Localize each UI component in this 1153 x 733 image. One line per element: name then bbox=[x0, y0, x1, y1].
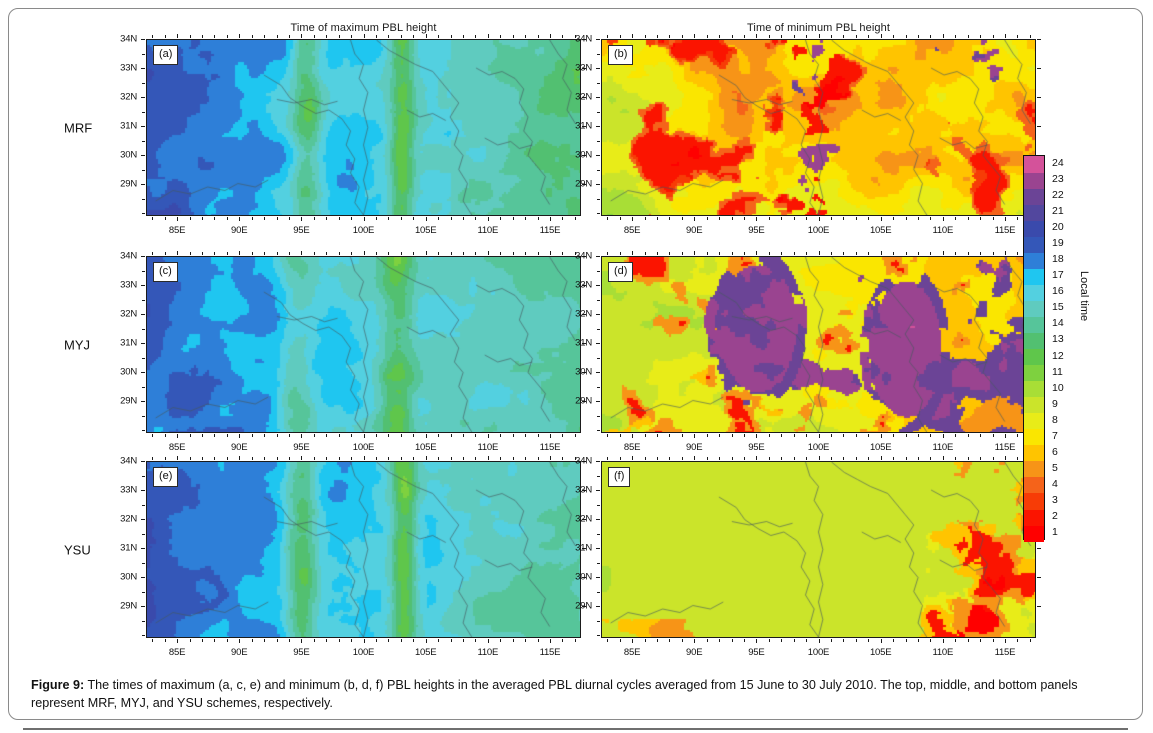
xtick-mark-top bbox=[550, 251, 551, 255]
xtick-mark-top bbox=[843, 457, 844, 460]
xtick-mark-bottom bbox=[165, 434, 166, 437]
ytick-label-29N: 29N bbox=[575, 179, 592, 190]
colorbar-label-13: 13 bbox=[1052, 333, 1064, 345]
colorbar-label-16: 16 bbox=[1052, 285, 1064, 297]
ytick-label-30N: 30N bbox=[575, 572, 592, 583]
xtick-mark-bottom bbox=[202, 639, 203, 642]
xtick-mark-top bbox=[980, 457, 981, 460]
ytick-mark-minor bbox=[142, 83, 145, 84]
colorbar-swatch-18 bbox=[1024, 252, 1044, 269]
xtick-mark-bottom bbox=[301, 217, 302, 221]
xtick-mark-top bbox=[475, 252, 476, 255]
xtick-mark-bottom bbox=[893, 217, 894, 220]
xtick-mark-top bbox=[388, 457, 389, 460]
xtick-mark-top bbox=[943, 456, 944, 460]
ytick-mark-minor bbox=[597, 534, 600, 535]
ytick-mark-right bbox=[1037, 68, 1041, 69]
xtick-mark-bottom bbox=[993, 217, 994, 220]
ytick-mark bbox=[141, 461, 145, 462]
xtick-mark-top bbox=[500, 457, 501, 460]
xtick-mark-bottom bbox=[868, 434, 869, 437]
xtick-mark-top bbox=[607, 252, 608, 255]
xtick-mark-top bbox=[326, 252, 327, 255]
xtick-mark-bottom bbox=[550, 217, 551, 221]
ytick-label-32N: 32N bbox=[575, 514, 592, 525]
xtick-mark-top bbox=[214, 457, 215, 460]
xtick-mark-bottom bbox=[856, 639, 857, 642]
xtick-mark-top bbox=[781, 457, 782, 460]
column-title-left: Time of maximum PBL height bbox=[146, 22, 581, 34]
xtick-mark-bottom bbox=[426, 217, 427, 221]
ytick-mark bbox=[141, 372, 145, 373]
ytick-mark-minor bbox=[597, 476, 600, 477]
xtick-mark-top bbox=[719, 35, 720, 38]
ytick-mark bbox=[141, 577, 145, 578]
map-e: (e) bbox=[146, 461, 581, 638]
xtick-mark-top bbox=[682, 457, 683, 460]
xtick-mark-top bbox=[794, 35, 795, 38]
xtick-mark-bottom bbox=[819, 434, 820, 438]
xtick-mark-top bbox=[463, 35, 464, 38]
xtick-mark-top bbox=[769, 457, 770, 460]
panel-tag: (d) bbox=[608, 262, 633, 282]
xtick-mark-top bbox=[657, 35, 658, 38]
xtick-mark-bottom bbox=[475, 434, 476, 437]
xtick-mark-bottom bbox=[152, 434, 153, 437]
ytick-mark-minor bbox=[142, 199, 145, 200]
ytick-mark-minor bbox=[597, 300, 600, 301]
xtick-mark-bottom bbox=[657, 434, 658, 437]
xtick-mark-top bbox=[682, 35, 683, 38]
xtick-mark-top bbox=[351, 252, 352, 255]
ytick-mark bbox=[596, 490, 600, 491]
xtick-mark-bottom bbox=[843, 217, 844, 220]
xtick-mark-bottom bbox=[451, 434, 452, 437]
xtick-mark-bottom bbox=[239, 217, 240, 221]
map-raster-d bbox=[602, 257, 1035, 432]
xtick-label-90E: 90E bbox=[686, 225, 702, 236]
xtick-mark-top bbox=[538, 252, 539, 255]
xtick-mark-bottom bbox=[488, 639, 489, 643]
ytick-mark-minor bbox=[597, 83, 600, 84]
xtick-mark-bottom bbox=[707, 639, 708, 642]
xtick-mark-top bbox=[314, 252, 315, 255]
xtick-mark-top bbox=[694, 34, 695, 38]
column-title-right: Time of minimum PBL height bbox=[601, 22, 1036, 34]
xtick-mark-top bbox=[943, 251, 944, 255]
row-label-MYJ: MYJ bbox=[64, 337, 90, 352]
panel-tag: (b) bbox=[608, 45, 633, 65]
xtick-mark-top bbox=[806, 35, 807, 38]
xtick-mark-top bbox=[562, 35, 563, 38]
ytick-label-34N: 34N bbox=[120, 34, 137, 45]
ytick-mark-right bbox=[1037, 606, 1041, 607]
xtick-mark-top bbox=[906, 35, 907, 38]
xtick-mark-top bbox=[525, 35, 526, 38]
xtick-label-90E: 90E bbox=[231, 442, 247, 453]
ytick-mark-right bbox=[1037, 577, 1041, 578]
xtick-mark-bottom bbox=[682, 217, 683, 220]
xtick-mark-bottom bbox=[943, 217, 944, 221]
xtick-mark-top bbox=[744, 35, 745, 38]
xtick-mark-top bbox=[993, 252, 994, 255]
xtick-mark-top bbox=[893, 35, 894, 38]
xtick-mark-bottom bbox=[881, 434, 882, 438]
ytick-mark bbox=[596, 401, 600, 402]
xtick-mark-top bbox=[632, 34, 633, 38]
colorbar-swatch-12 bbox=[1024, 349, 1044, 366]
xtick-mark-bottom bbox=[165, 639, 166, 642]
xtick-mark-bottom bbox=[227, 217, 228, 220]
xtick-mark-top bbox=[781, 35, 782, 38]
xtick-mark-top bbox=[202, 457, 203, 460]
xtick-mark-bottom bbox=[301, 434, 302, 438]
panel-f: (f)34N33N32N31N30N29N85E90E95E100E105E11… bbox=[601, 461, 1036, 638]
xtick-mark-bottom bbox=[806, 639, 807, 642]
xtick-mark-bottom bbox=[694, 639, 695, 643]
xtick-mark-top bbox=[806, 457, 807, 460]
xtick-mark-top bbox=[152, 457, 153, 460]
xtick-mark-bottom bbox=[707, 217, 708, 220]
xtick-mark-bottom bbox=[388, 434, 389, 437]
xtick-mark-bottom bbox=[289, 434, 290, 437]
ytick-mark-minor bbox=[597, 329, 600, 330]
colorbar-label-15: 15 bbox=[1052, 301, 1064, 313]
xtick-mark-top bbox=[620, 252, 621, 255]
colorbar-label-12: 12 bbox=[1052, 350, 1064, 362]
xtick-label-85E: 85E bbox=[169, 442, 185, 453]
ytick-label-34N: 34N bbox=[120, 456, 137, 467]
xtick-mark-bottom bbox=[906, 434, 907, 437]
xtick-mark-bottom bbox=[314, 434, 315, 437]
ytick-label-33N: 33N bbox=[575, 485, 592, 496]
ytick-mark bbox=[596, 155, 600, 156]
xtick-mark-bottom bbox=[893, 639, 894, 642]
ytick-mark bbox=[141, 285, 145, 286]
xtick-mark-bottom bbox=[538, 217, 539, 220]
xtick-mark-bottom bbox=[1030, 639, 1031, 642]
xtick-mark-top bbox=[794, 252, 795, 255]
ytick-mark bbox=[596, 606, 600, 607]
xtick-mark-top bbox=[413, 457, 414, 460]
xtick-mark-top bbox=[339, 35, 340, 38]
xtick-mark-top bbox=[451, 252, 452, 255]
xtick-label-100E: 100E bbox=[808, 647, 829, 658]
xtick-mark-top bbox=[893, 252, 894, 255]
xtick-mark-bottom bbox=[326, 434, 327, 437]
xtick-mark-top bbox=[227, 457, 228, 460]
xtick-mark-top bbox=[202, 252, 203, 255]
xtick-mark-bottom bbox=[364, 217, 365, 221]
xtick-label-100E: 100E bbox=[808, 442, 829, 453]
xtick-mark-bottom bbox=[955, 217, 956, 220]
ytick-label-33N: 33N bbox=[575, 280, 592, 291]
xtick-mark-top bbox=[694, 251, 695, 255]
xtick-mark-bottom bbox=[227, 639, 228, 642]
xtick-mark-bottom bbox=[401, 639, 402, 642]
xtick-mark-top bbox=[413, 252, 414, 255]
ytick-mark-minor bbox=[597, 621, 600, 622]
xtick-mark-top bbox=[326, 457, 327, 460]
colorbar-label-18: 18 bbox=[1052, 253, 1064, 265]
xtick-mark-top bbox=[413, 35, 414, 38]
xtick-mark-bottom bbox=[669, 217, 670, 220]
ytick-mark bbox=[596, 184, 600, 185]
colorbar-label-7: 7 bbox=[1052, 430, 1058, 442]
xtick-mark-top bbox=[744, 457, 745, 460]
ytick-mark-minor bbox=[597, 112, 600, 113]
xtick-label-95E: 95E bbox=[293, 442, 309, 453]
xtick-label-95E: 95E bbox=[293, 647, 309, 658]
panel-a: Time of maximum PBL height(a)34N33N32N31… bbox=[146, 39, 581, 216]
xtick-mark-top bbox=[993, 457, 994, 460]
xtick-mark-bottom bbox=[252, 217, 253, 220]
xtick-mark-bottom bbox=[831, 639, 832, 642]
ytick-label-30N: 30N bbox=[120, 367, 137, 378]
xtick-mark-top bbox=[289, 252, 290, 255]
xtick-mark-bottom bbox=[781, 639, 782, 642]
panel-c: (c)34N33N32N31N30N29N85E90E95E100E105E11… bbox=[146, 256, 581, 433]
colorbar-swatch-22 bbox=[1024, 188, 1044, 205]
colorbar-strip bbox=[1023, 155, 1045, 540]
xtick-mark-bottom bbox=[620, 217, 621, 220]
xtick-mark-top bbox=[819, 34, 820, 38]
xtick-mark-top bbox=[177, 251, 178, 255]
ytick-label-32N: 32N bbox=[575, 309, 592, 320]
colorbar-swatch-13 bbox=[1024, 332, 1044, 349]
xtick-mark-bottom bbox=[475, 639, 476, 642]
xtick-mark-bottom bbox=[214, 434, 215, 437]
xtick-mark-top bbox=[463, 252, 464, 255]
xtick-mark-bottom bbox=[968, 434, 969, 437]
ytick-label-29N: 29N bbox=[575, 601, 592, 612]
xtick-mark-bottom bbox=[980, 639, 981, 642]
xtick-mark-top bbox=[438, 252, 439, 255]
xtick-mark-top bbox=[868, 35, 869, 38]
xtick-mark-bottom bbox=[918, 639, 919, 642]
xtick-mark-top bbox=[277, 457, 278, 460]
xtick-mark-top bbox=[513, 252, 514, 255]
ytick-mark bbox=[596, 461, 600, 462]
xtick-label-85E: 85E bbox=[169, 225, 185, 236]
map-raster-a bbox=[147, 40, 580, 215]
ytick-label-33N: 33N bbox=[120, 280, 137, 291]
xtick-mark-bottom bbox=[463, 639, 464, 642]
panel-tag: (e) bbox=[153, 467, 178, 487]
caption-label: Figure 9: bbox=[31, 678, 84, 692]
map-f: (f) bbox=[601, 461, 1036, 638]
xtick-mark-top bbox=[756, 251, 757, 255]
colorbar-swatch-14 bbox=[1024, 316, 1044, 333]
xtick-mark-bottom bbox=[177, 217, 178, 221]
xtick-label-115E: 115E bbox=[995, 442, 1016, 453]
xtick-label-85E: 85E bbox=[169, 647, 185, 658]
xtick-mark-bottom bbox=[277, 639, 278, 642]
colorbar-label-11: 11 bbox=[1052, 366, 1063, 378]
ytick-mark-minor bbox=[142, 416, 145, 417]
xtick-label-85E: 85E bbox=[624, 442, 640, 453]
xtick-mark-bottom bbox=[277, 217, 278, 220]
ytick-mark bbox=[596, 68, 600, 69]
xtick-mark-bottom bbox=[289, 639, 290, 642]
ytick-mark-minor bbox=[597, 563, 600, 564]
xtick-mark-bottom bbox=[364, 639, 365, 643]
xtick-mark-bottom bbox=[794, 217, 795, 220]
xtick-mark-top bbox=[513, 35, 514, 38]
ytick-mark-right bbox=[1037, 39, 1041, 40]
panel-e: (e)34N33N32N31N30N29N85E90E95E100E105E11… bbox=[146, 461, 581, 638]
ytick-label-30N: 30N bbox=[575, 367, 592, 378]
colorbar-label-2: 2 bbox=[1052, 510, 1058, 522]
xtick-mark-top bbox=[438, 35, 439, 38]
xtick-mark-top bbox=[488, 34, 489, 38]
xtick-mark-bottom bbox=[632, 434, 633, 438]
xtick-mark-bottom bbox=[426, 639, 427, 643]
ytick-mark bbox=[141, 606, 145, 607]
xtick-mark-top bbox=[426, 34, 427, 38]
xtick-mark-top bbox=[301, 456, 302, 460]
xtick-mark-bottom bbox=[930, 434, 931, 437]
ytick-label-31N: 31N bbox=[575, 121, 592, 132]
xtick-label-95E: 95E bbox=[293, 225, 309, 236]
ytick-label-34N: 34N bbox=[575, 456, 592, 467]
xtick-mark-bottom bbox=[177, 434, 178, 438]
xtick-mark-bottom bbox=[488, 217, 489, 221]
xtick-mark-top bbox=[669, 457, 670, 460]
colorbar-label-22: 22 bbox=[1052, 189, 1064, 201]
xtick-mark-bottom bbox=[339, 639, 340, 642]
xtick-mark-bottom bbox=[645, 217, 646, 220]
xtick-mark-bottom bbox=[1017, 217, 1018, 220]
xtick-label-115E: 115E bbox=[540, 647, 561, 658]
xtick-label-100E: 100E bbox=[808, 225, 829, 236]
ytick-mark-minor bbox=[597, 141, 600, 142]
ytick-label-33N: 33N bbox=[575, 63, 592, 74]
xtick-mark-top bbox=[756, 34, 757, 38]
xtick-mark-top bbox=[657, 457, 658, 460]
xtick-mark-bottom bbox=[388, 639, 389, 642]
xtick-mark-bottom bbox=[607, 639, 608, 642]
xtick-label-110E: 110E bbox=[477, 442, 498, 453]
xtick-mark-bottom bbox=[756, 217, 757, 221]
xtick-mark-top bbox=[918, 35, 919, 38]
xtick-mark-bottom bbox=[426, 434, 427, 438]
xtick-mark-bottom bbox=[264, 217, 265, 220]
xtick-mark-top bbox=[732, 457, 733, 460]
xtick-mark-top bbox=[669, 252, 670, 255]
xtick-label-90E: 90E bbox=[686, 442, 702, 453]
xtick-mark-top bbox=[463, 457, 464, 460]
xtick-mark-top bbox=[781, 252, 782, 255]
xtick-mark-bottom bbox=[538, 639, 539, 642]
ytick-mark bbox=[141, 184, 145, 185]
xtick-mark-bottom bbox=[669, 434, 670, 437]
xtick-mark-bottom bbox=[413, 217, 414, 220]
xtick-mark-top bbox=[364, 251, 365, 255]
xtick-mark-bottom bbox=[632, 639, 633, 643]
xtick-mark-top bbox=[239, 456, 240, 460]
xtick-mark-bottom bbox=[513, 434, 514, 437]
ytick-mark-minor bbox=[142, 271, 145, 272]
ytick-mark-minor bbox=[142, 534, 145, 535]
xtick-label-90E: 90E bbox=[231, 225, 247, 236]
xtick-mark-top bbox=[488, 251, 489, 255]
xtick-mark-bottom bbox=[843, 434, 844, 437]
ytick-mark bbox=[141, 343, 145, 344]
colorbar-axis-label: Local time bbox=[1078, 271, 1090, 321]
ytick-mark-minor bbox=[142, 387, 145, 388]
xtick-mark-bottom bbox=[152, 217, 153, 220]
ytick-mark-minor bbox=[597, 592, 600, 593]
ytick-label-32N: 32N bbox=[120, 309, 137, 320]
xtick-mark-top bbox=[426, 251, 427, 255]
xtick-mark-top bbox=[843, 35, 844, 38]
xtick-mark-top bbox=[252, 457, 253, 460]
xtick-mark-top bbox=[525, 252, 526, 255]
xtick-mark-bottom bbox=[930, 217, 931, 220]
xtick-mark-top bbox=[214, 252, 215, 255]
caption-divider bbox=[23, 728, 1128, 730]
xtick-mark-bottom bbox=[1005, 639, 1006, 643]
ytick-mark-minor bbox=[142, 621, 145, 622]
xtick-label-105E: 105E bbox=[870, 442, 891, 453]
xtick-mark-bottom bbox=[781, 217, 782, 220]
xtick-mark-top bbox=[264, 35, 265, 38]
xtick-mark-top bbox=[806, 252, 807, 255]
xtick-label-105E: 105E bbox=[415, 225, 436, 236]
map-raster-f bbox=[602, 462, 1035, 637]
ytick-label-31N: 31N bbox=[120, 121, 137, 132]
xtick-mark-top bbox=[227, 35, 228, 38]
xtick-mark-bottom bbox=[744, 639, 745, 642]
ytick-mark-minor bbox=[142, 476, 145, 477]
xtick-label-85E: 85E bbox=[624, 225, 640, 236]
ytick-mark bbox=[596, 314, 600, 315]
figure-frame: Time of maximum PBL height(a)34N33N32N31… bbox=[8, 8, 1143, 720]
xtick-mark-top bbox=[719, 252, 720, 255]
xtick-mark-top bbox=[277, 35, 278, 38]
ytick-mark-minor bbox=[597, 199, 600, 200]
xtick-mark-top bbox=[831, 252, 832, 255]
colorbar-swatch-1 bbox=[1024, 525, 1044, 542]
xtick-mark-bottom bbox=[980, 434, 981, 437]
xtick-mark-top bbox=[550, 456, 551, 460]
xtick-mark-top bbox=[239, 251, 240, 255]
xtick-mark-top bbox=[819, 456, 820, 460]
xtick-mark-top bbox=[438, 457, 439, 460]
xtick-mark-top bbox=[401, 457, 402, 460]
xtick-mark-bottom bbox=[277, 434, 278, 437]
xtick-mark-top bbox=[893, 457, 894, 460]
colorbar-swatch-5 bbox=[1024, 461, 1044, 478]
xtick-mark-top bbox=[669, 35, 670, 38]
xtick-mark-top bbox=[364, 456, 365, 460]
xtick-mark-bottom bbox=[732, 434, 733, 437]
ytick-mark bbox=[141, 401, 145, 402]
xtick-mark-bottom bbox=[831, 434, 832, 437]
ytick-label-31N: 31N bbox=[575, 543, 592, 554]
xtick-mark-top bbox=[252, 35, 253, 38]
xtick-mark-top bbox=[401, 252, 402, 255]
xtick-mark-bottom bbox=[607, 217, 608, 220]
map-d: (d) bbox=[601, 256, 1036, 433]
xtick-mark-top bbox=[301, 251, 302, 255]
xtick-mark-bottom bbox=[719, 434, 720, 437]
xtick-mark-bottom bbox=[993, 434, 994, 437]
panel-tag: (c) bbox=[153, 262, 178, 282]
xtick-mark-bottom bbox=[252, 639, 253, 642]
xtick-mark-bottom bbox=[769, 217, 770, 220]
